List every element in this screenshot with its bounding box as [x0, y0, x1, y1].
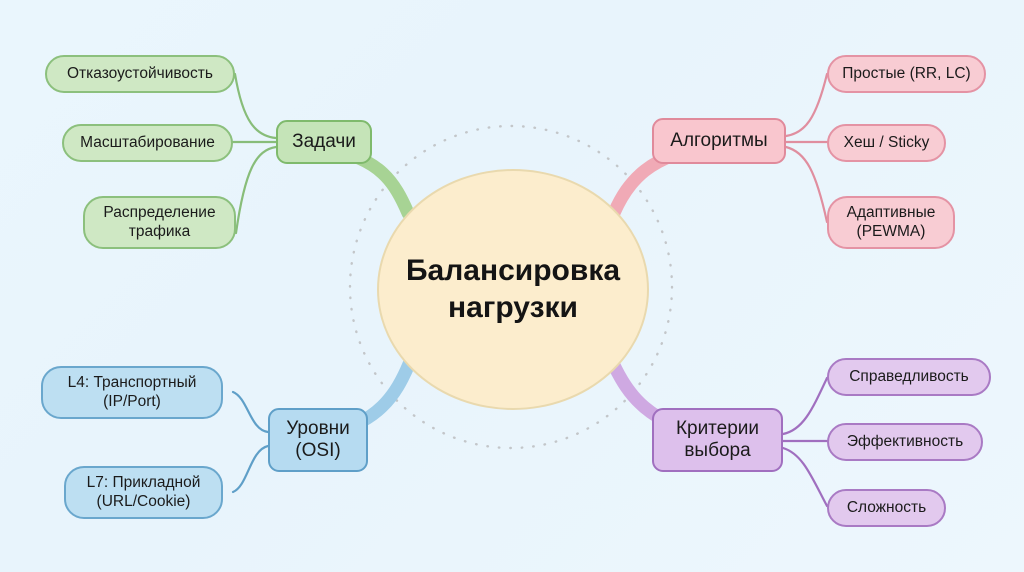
link-osi-2 [233, 446, 268, 492]
leaf-node-criteria-efficiency[interactable]: Эффективность [827, 423, 983, 461]
leaf-node-tasks-traffic-distribution[interactable]: Распределение трафика [83, 196, 236, 249]
leaf-node-algorithms-hash-sticky[interactable]: Хеш / Sticky [827, 124, 946, 162]
link-criteria-1 [783, 378, 827, 434]
mindmap-canvas: Балансировка нагрузки Задачи Алгоритмы У… [0, 0, 1024, 572]
link-tasks-3 [236, 147, 276, 233]
link-algorithms-1 [786, 74, 827, 136]
link-osi-1 [233, 392, 268, 432]
leaf-node-criteria-complexity[interactable]: Сложность [827, 489, 946, 527]
leaf-node-tasks-scaling[interactable]: Масштабирование [62, 124, 233, 162]
link-criteria-3 [783, 448, 827, 506]
leaf-node-criteria-fairness[interactable]: Справедливость [827, 358, 991, 396]
leaf-node-algorithms-simple[interactable]: Простые (RR, LC) [827, 55, 986, 93]
leaf-node-osi-l7-application[interactable]: L7: Прикладной (URL/Cookie) [64, 466, 223, 519]
branch-node-osi-levels[interactable]: Уровни (OSI) [268, 408, 368, 472]
link-algorithms-3 [786, 147, 827, 222]
leaf-node-osi-l4-transport[interactable]: L4: Транспортный (IP/Port) [41, 366, 223, 419]
branch-node-algorithms[interactable]: Алгоритмы [652, 118, 786, 164]
branch-node-tasks[interactable]: Задачи [276, 120, 372, 164]
leaf-node-algorithms-adaptive[interactable]: Адаптивные (PEWMA) [827, 196, 955, 249]
link-tasks-1 [235, 74, 276, 138]
branch-node-selection-criteria[interactable]: Критерии выбора [652, 408, 783, 472]
central-topic[interactable]: Балансировка нагрузки [377, 169, 649, 410]
leaf-node-tasks-fault-tolerance[interactable]: Отказоустойчивость [45, 55, 235, 93]
